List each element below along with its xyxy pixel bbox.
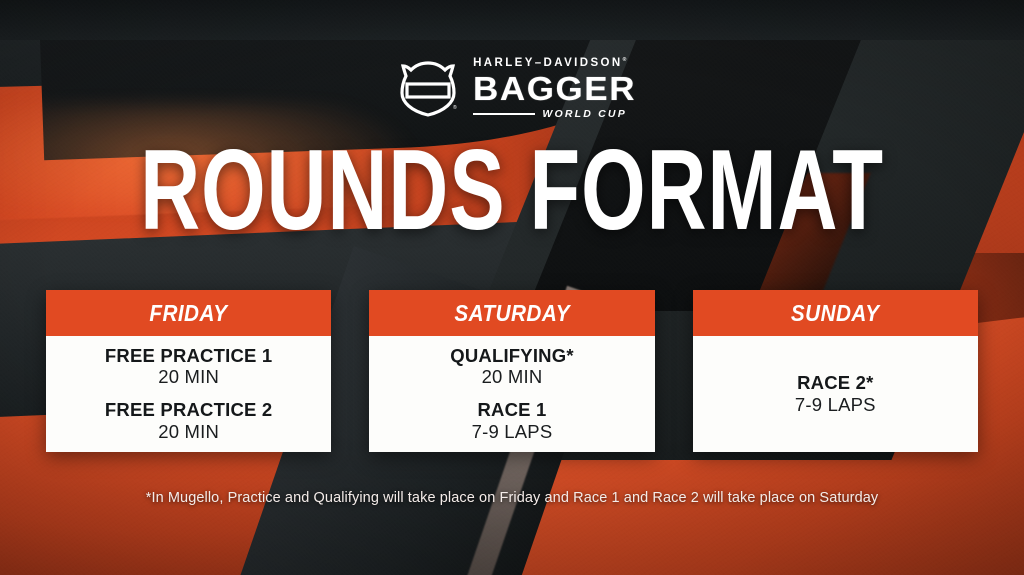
- session-duration: 7-9 LAPS: [472, 421, 553, 444]
- schedule-card-friday: FRIDAY FREE PRACTICE 1 20 MIN FREE PRACT…: [46, 290, 331, 452]
- session-title: RACE 2*: [795, 372, 876, 394]
- session-title: RACE 1: [472, 399, 553, 421]
- trademark-symbol: ®: [623, 57, 627, 63]
- schedule-card-saturday: SATURDAY QUALIFYING* 20 MIN RACE 1 7-9 L…: [369, 290, 654, 452]
- schedule-card-sunday: SUNDAY RACE 2* 7-9 LAPS: [693, 290, 978, 452]
- schedule-cards: FRIDAY FREE PRACTICE 1 20 MIN FREE PRACT…: [46, 290, 978, 452]
- page-title: ROUNDS FORMAT: [102, 140, 921, 243]
- svg-text:®: ®: [453, 104, 457, 111]
- card-day-label: SATURDAY: [454, 300, 570, 327]
- card-day-label: FRIDAY: [150, 300, 228, 327]
- rounds-format-poster: ® HARLEY–DAVIDSON® BAGGER WORLD CUP ROUN…: [0, 0, 1024, 575]
- session-title: FREE PRACTICE 2: [105, 399, 272, 421]
- card-header-sunday: SUNDAY: [693, 290, 978, 336]
- card-day-label: SUNDAY: [791, 300, 880, 327]
- card-header-saturday: SATURDAY: [369, 290, 654, 336]
- harley-davidson-bar-and-shield-icon: ®: [397, 60, 459, 118]
- session-duration: 20 MIN: [450, 366, 573, 389]
- session-entry: RACE 1 7-9 LAPS: [472, 399, 553, 443]
- session-duration: 20 MIN: [105, 366, 272, 389]
- session-duration: 7-9 LAPS: [795, 394, 876, 417]
- session-title: QUALIFYING*: [450, 345, 573, 367]
- wordmark-bagger: BAGGER: [473, 72, 636, 107]
- card-header-friday: FRIDAY: [46, 290, 331, 336]
- poster-content: ® HARLEY–DAVIDSON® BAGGER WORLD CUP ROUN…: [0, 0, 1024, 575]
- wordmark-harley-davidson: HARLEY–DAVIDSON®: [473, 58, 626, 70]
- session-title: FREE PRACTICE 1: [105, 345, 272, 367]
- footnote-text: *In Mugello, Practice and Qualifying wil…: [0, 490, 1024, 506]
- bagger-world-cup-wordmark: HARLEY–DAVIDSON® BAGGER WORLD CUP: [473, 58, 627, 120]
- wordmark-world-cup: WORLD CUP: [542, 108, 627, 120]
- card-body-friday: FREE PRACTICE 1 20 MIN FREE PRACTICE 2 2…: [46, 336, 331, 452]
- wordmark-subrow: WORLD CUP: [473, 108, 627, 120]
- session-entry: FREE PRACTICE 2 20 MIN: [105, 399, 272, 443]
- session-duration: 20 MIN: [105, 421, 272, 444]
- brand-logo-lockup: ® HARLEY–DAVIDSON® BAGGER WORLD CUP: [0, 58, 1024, 120]
- card-body-sunday: RACE 2* 7-9 LAPS: [693, 336, 978, 452]
- session-entry: RACE 2* 7-9 LAPS: [795, 372, 876, 416]
- card-body-saturday: QUALIFYING* 20 MIN RACE 1 7-9 LAPS: [369, 336, 654, 452]
- wordmark-rule: [473, 113, 535, 115]
- session-entry: FREE PRACTICE 1 20 MIN: [105, 345, 272, 389]
- session-entry: QUALIFYING* 20 MIN: [450, 345, 573, 389]
